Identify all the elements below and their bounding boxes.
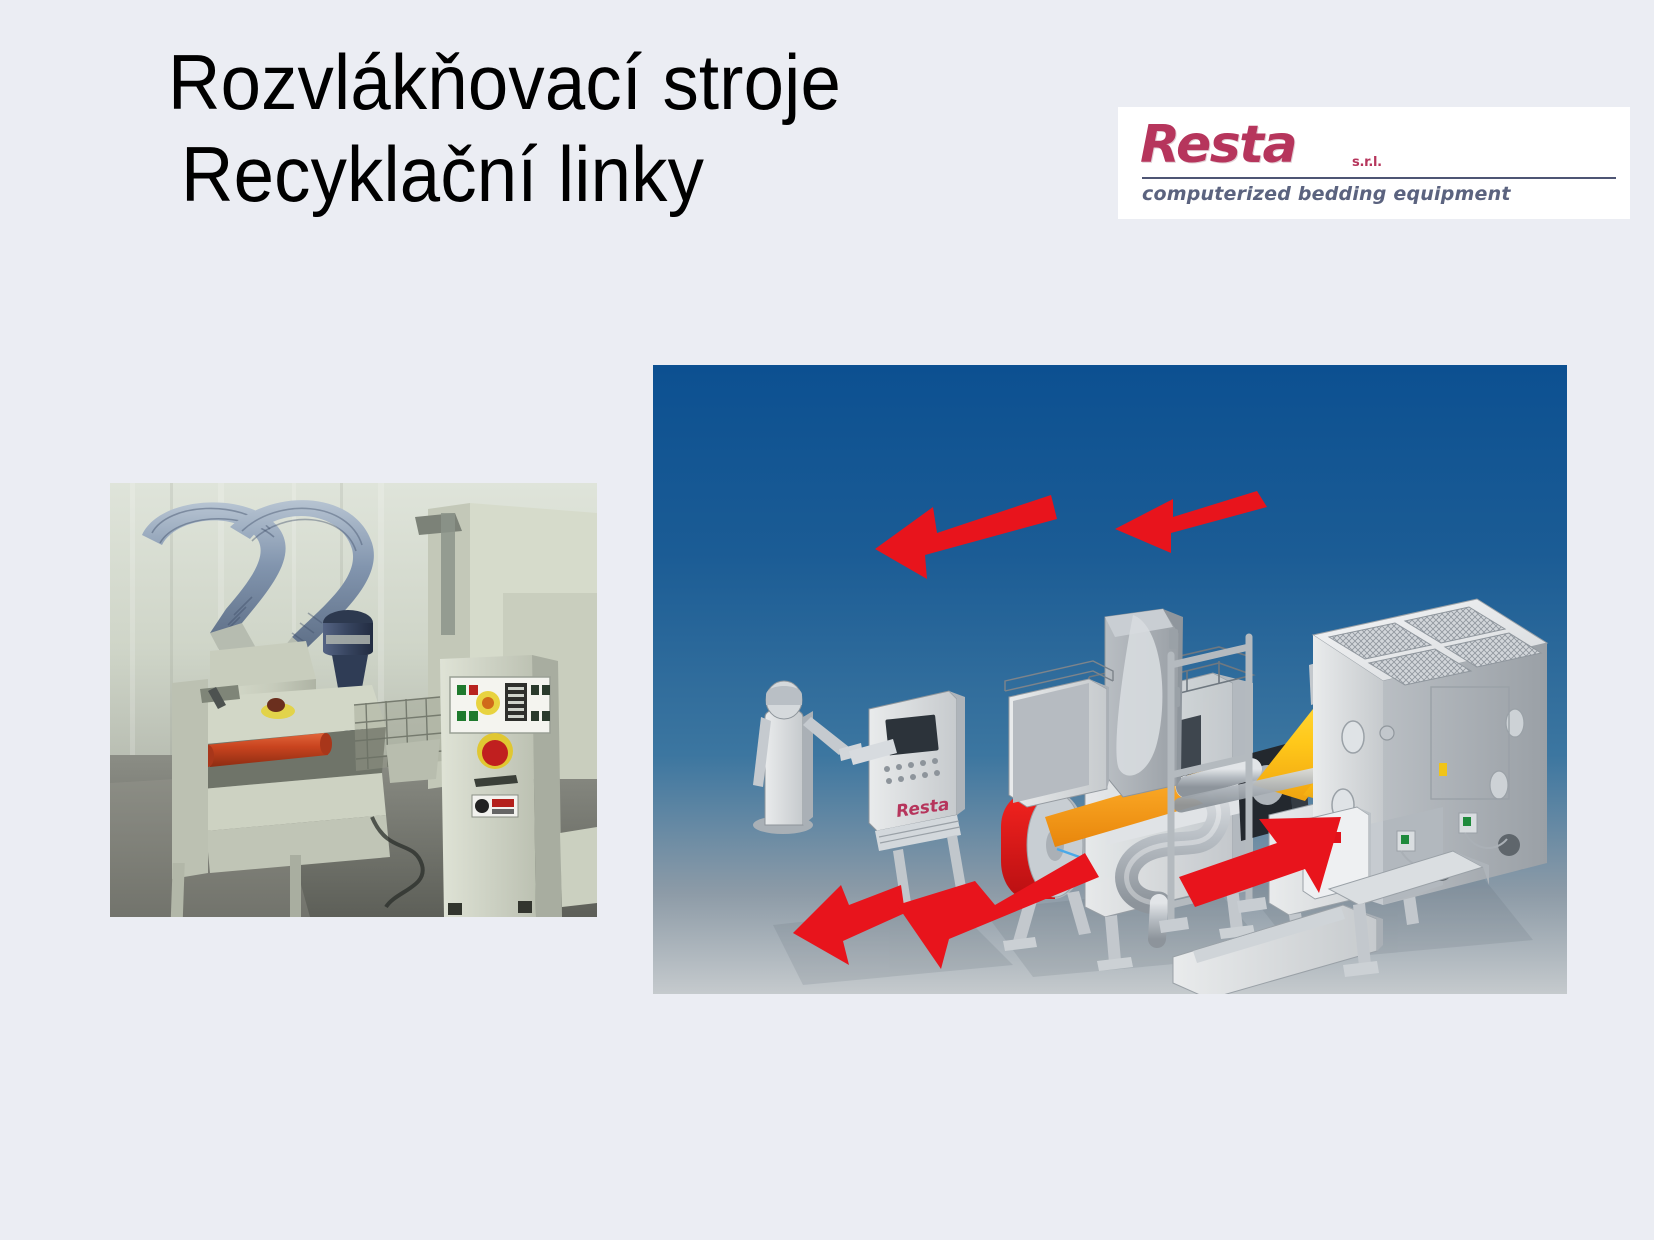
button-green-1 — [457, 685, 466, 695]
press-port-4 — [1490, 771, 1508, 799]
photo-column-pipe — [441, 513, 455, 635]
logo-wordmark: Resta — [1140, 117, 1296, 173]
right-low-unit — [560, 827, 597, 907]
cyclone-latch-top — [1169, 629, 1178, 649]
button-dark-1 — [531, 685, 539, 695]
emergency-stop — [477, 733, 513, 769]
button-dark-2 — [542, 685, 550, 695]
logo-inner: Resta s.r.l. computerized bedding equipm… — [1140, 117, 1624, 213]
machine-frame-left — [172, 679, 208, 879]
title-line-2: Recyklační linky — [168, 128, 986, 220]
slide-root: Rozvlákňovací stroje Recyklační linky Re… — [0, 0, 1654, 1240]
collection-bin — [386, 739, 440, 783]
page-title: Rozvlákňovací stroje Recyklační linky — [168, 36, 1048, 220]
cabinet-foot-right — [518, 901, 532, 913]
button-green-3 — [469, 711, 478, 721]
leg-front-right — [290, 855, 301, 917]
title-line-1: Rozvlákňovací stroje — [168, 36, 986, 128]
resta-logo: Resta s.r.l. computerized bedding equipm… — [1118, 107, 1630, 219]
button-dark-3 — [531, 711, 539, 721]
render-right-graphic: Resta — [653, 365, 1567, 994]
button-dark-4 — [542, 711, 550, 721]
control-panel — [450, 677, 550, 733]
press-port-1 — [1342, 721, 1364, 753]
press-label-yellow — [1439, 763, 1447, 776]
photo-fiber-opening-machine — [110, 483, 597, 917]
logo-tagline: computerized bedding equipment — [1142, 183, 1511, 205]
button-red-1 — [469, 685, 478, 695]
photo-left-graphic — [110, 483, 597, 917]
render-recycling-line: Resta — [653, 365, 1567, 994]
cabinet-foot-left — [448, 903, 462, 915]
warning-label — [472, 795, 518, 817]
button-green-2 — [457, 711, 466, 721]
logo-suffix: s.r.l. — [1352, 155, 1382, 170]
press-knob — [1380, 726, 1394, 740]
logo-divider — [1142, 177, 1616, 179]
